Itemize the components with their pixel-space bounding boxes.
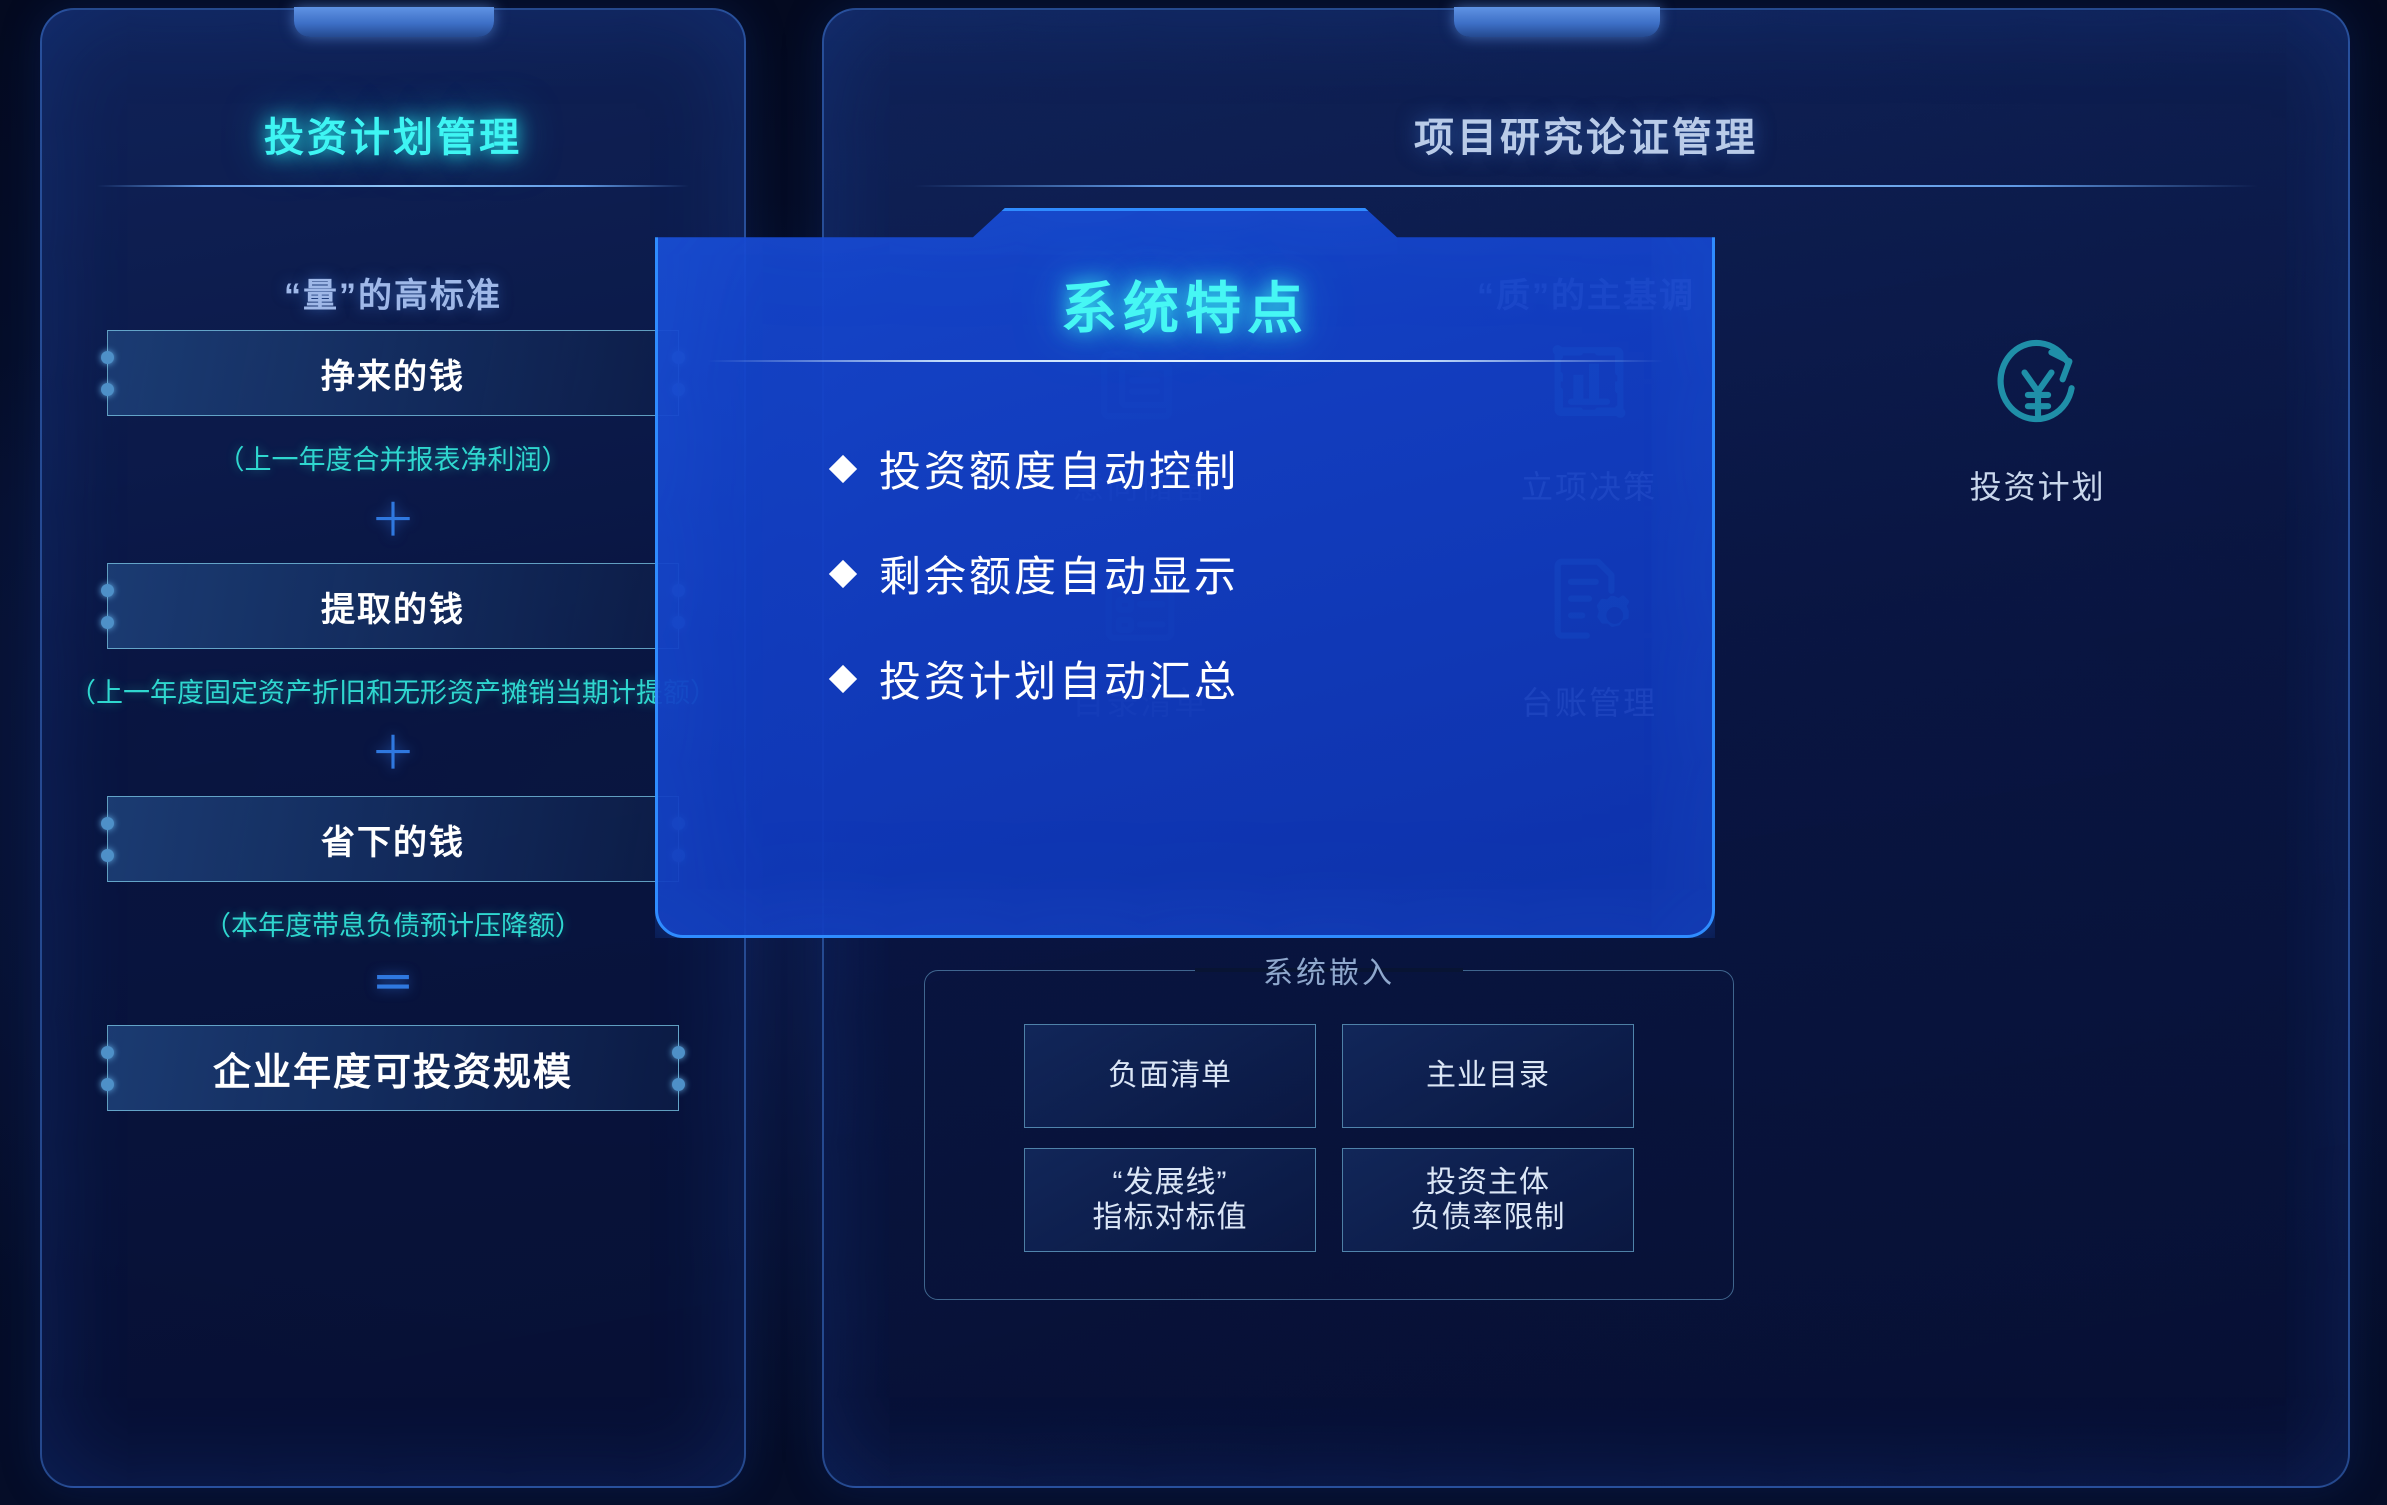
right-title-divider [914, 185, 2258, 187]
diamond-bullet-icon [829, 559, 857, 587]
panel-tab-notch-left [294, 7, 494, 37]
system-feature-label: 投资额度自动控制 [879, 438, 1239, 499]
left-panel-title: 投资计划管理 [42, 105, 744, 163]
formula-box-saved: 省下的钱 [107, 796, 679, 882]
system-embed-section: 系统嵌入 负面清单 主业目录 “发展线” 指标对标值 投资主体 负债率限制 [924, 970, 1734, 1300]
system-features-card[interactable]: 系统特点 投资额度自动控制 剩余额度自动显示 投资计划自动汇总 [655, 208, 1715, 938]
formula-note-earned: （上一年度合并报表净利润） [42, 438, 744, 477]
formula-note-withdrawn: （上一年度固定资产折旧和无形资产摊销当期计提额） [42, 671, 744, 710]
panel-tab-notch-right [1454, 7, 1660, 37]
formula-operator-plus-2: ＋ [42, 730, 744, 776]
formula-result-label: 企业年度可投资规模 [213, 1041, 573, 1096]
system-embed-grid: 负面清单 主业目录 “发展线” 指标对标值 投资主体 负债率限制 [1024, 1024, 1634, 1252]
left-panel-subtitle: “量”的高标准 [42, 268, 744, 317]
embed-box-line: 投资主体 [1426, 1165, 1550, 1200]
box-dot [672, 1078, 685, 1091]
module-item-investment-plan[interactable]: 投资计划 [1813, 330, 2262, 508]
diamond-bullet-icon [829, 664, 857, 692]
system-feature-item: 剩余额度自动显示 [833, 543, 1239, 604]
embed-box-line: 指标对标值 [1093, 1200, 1248, 1235]
box-dot [101, 849, 114, 862]
investment-formula: 挣来的钱 （上一年度合并报表净利润） ＋ 提取的钱 （上一年度固定资产折旧和无形… [42, 330, 744, 1111]
formula-note-saved: （本年度带息负债预计压降额） [42, 904, 744, 943]
system-feature-item: 投资额度自动控制 [833, 438, 1239, 499]
system-features-divider [707, 360, 1663, 362]
box-dot [101, 383, 114, 396]
formula-box-label: 省下的钱 [321, 815, 465, 864]
formula-box-label: 提取的钱 [321, 582, 465, 631]
diamond-bullet-icon [829, 454, 857, 482]
yuan-circle-icon [1982, 330, 2094, 442]
embed-box-main-business-catalog[interactable]: 主业目录 [1342, 1024, 1634, 1128]
embed-box-investor-debt-limit[interactable]: 投资主体 负债率限制 [1342, 1148, 1634, 1252]
formula-operator-equals: ＝ [42, 963, 744, 1005]
system-feature-label: 投资计划自动汇总 [879, 648, 1239, 709]
module-item-label: 投资计划 [1970, 462, 2106, 508]
formula-operator-plus-1: ＋ [42, 497, 744, 543]
panel-investment-plan: 投资计划管理 “量”的高标准 挣来的钱 （上一年度合并报表净利润） ＋ 提取的钱… [40, 8, 746, 1488]
system-embed-legend: 系统嵌入 [924, 948, 1734, 992]
embed-box-line: 负面清单 [1108, 1058, 1232, 1093]
system-feature-label: 剩余额度自动显示 [879, 543, 1239, 604]
right-panel-title: 项目研究论证管理 [824, 105, 2348, 163]
embed-box-negative-list[interactable]: 负面清单 [1024, 1024, 1316, 1128]
formula-box-earned: 挣来的钱 [107, 330, 679, 416]
slide-canvas: 投资计划管理 “量”的高标准 挣来的钱 （上一年度合并报表净利润） ＋ 提取的钱… [0, 0, 2387, 1505]
formula-box-result: 企业年度可投资规模 [107, 1025, 679, 1111]
embed-box-line: “发展线” [1113, 1165, 1228, 1200]
embed-box-line: 负债率限制 [1411, 1200, 1566, 1235]
formula-box-withdrawn: 提取的钱 [107, 563, 679, 649]
system-features-title: 系统特点 [655, 264, 1715, 345]
system-features-list: 投资额度自动控制 剩余额度自动显示 投资计划自动汇总 [833, 438, 1239, 709]
box-dot [101, 616, 114, 629]
embed-box-development-line-benchmark[interactable]: “发展线” 指标对标值 [1024, 1148, 1316, 1252]
formula-box-label: 挣来的钱 [321, 349, 465, 398]
system-feature-item: 投资计划自动汇总 [833, 648, 1239, 709]
left-title-divider [97, 185, 689, 187]
box-dot [101, 1078, 114, 1091]
embed-box-line: 主业目录 [1426, 1058, 1550, 1093]
